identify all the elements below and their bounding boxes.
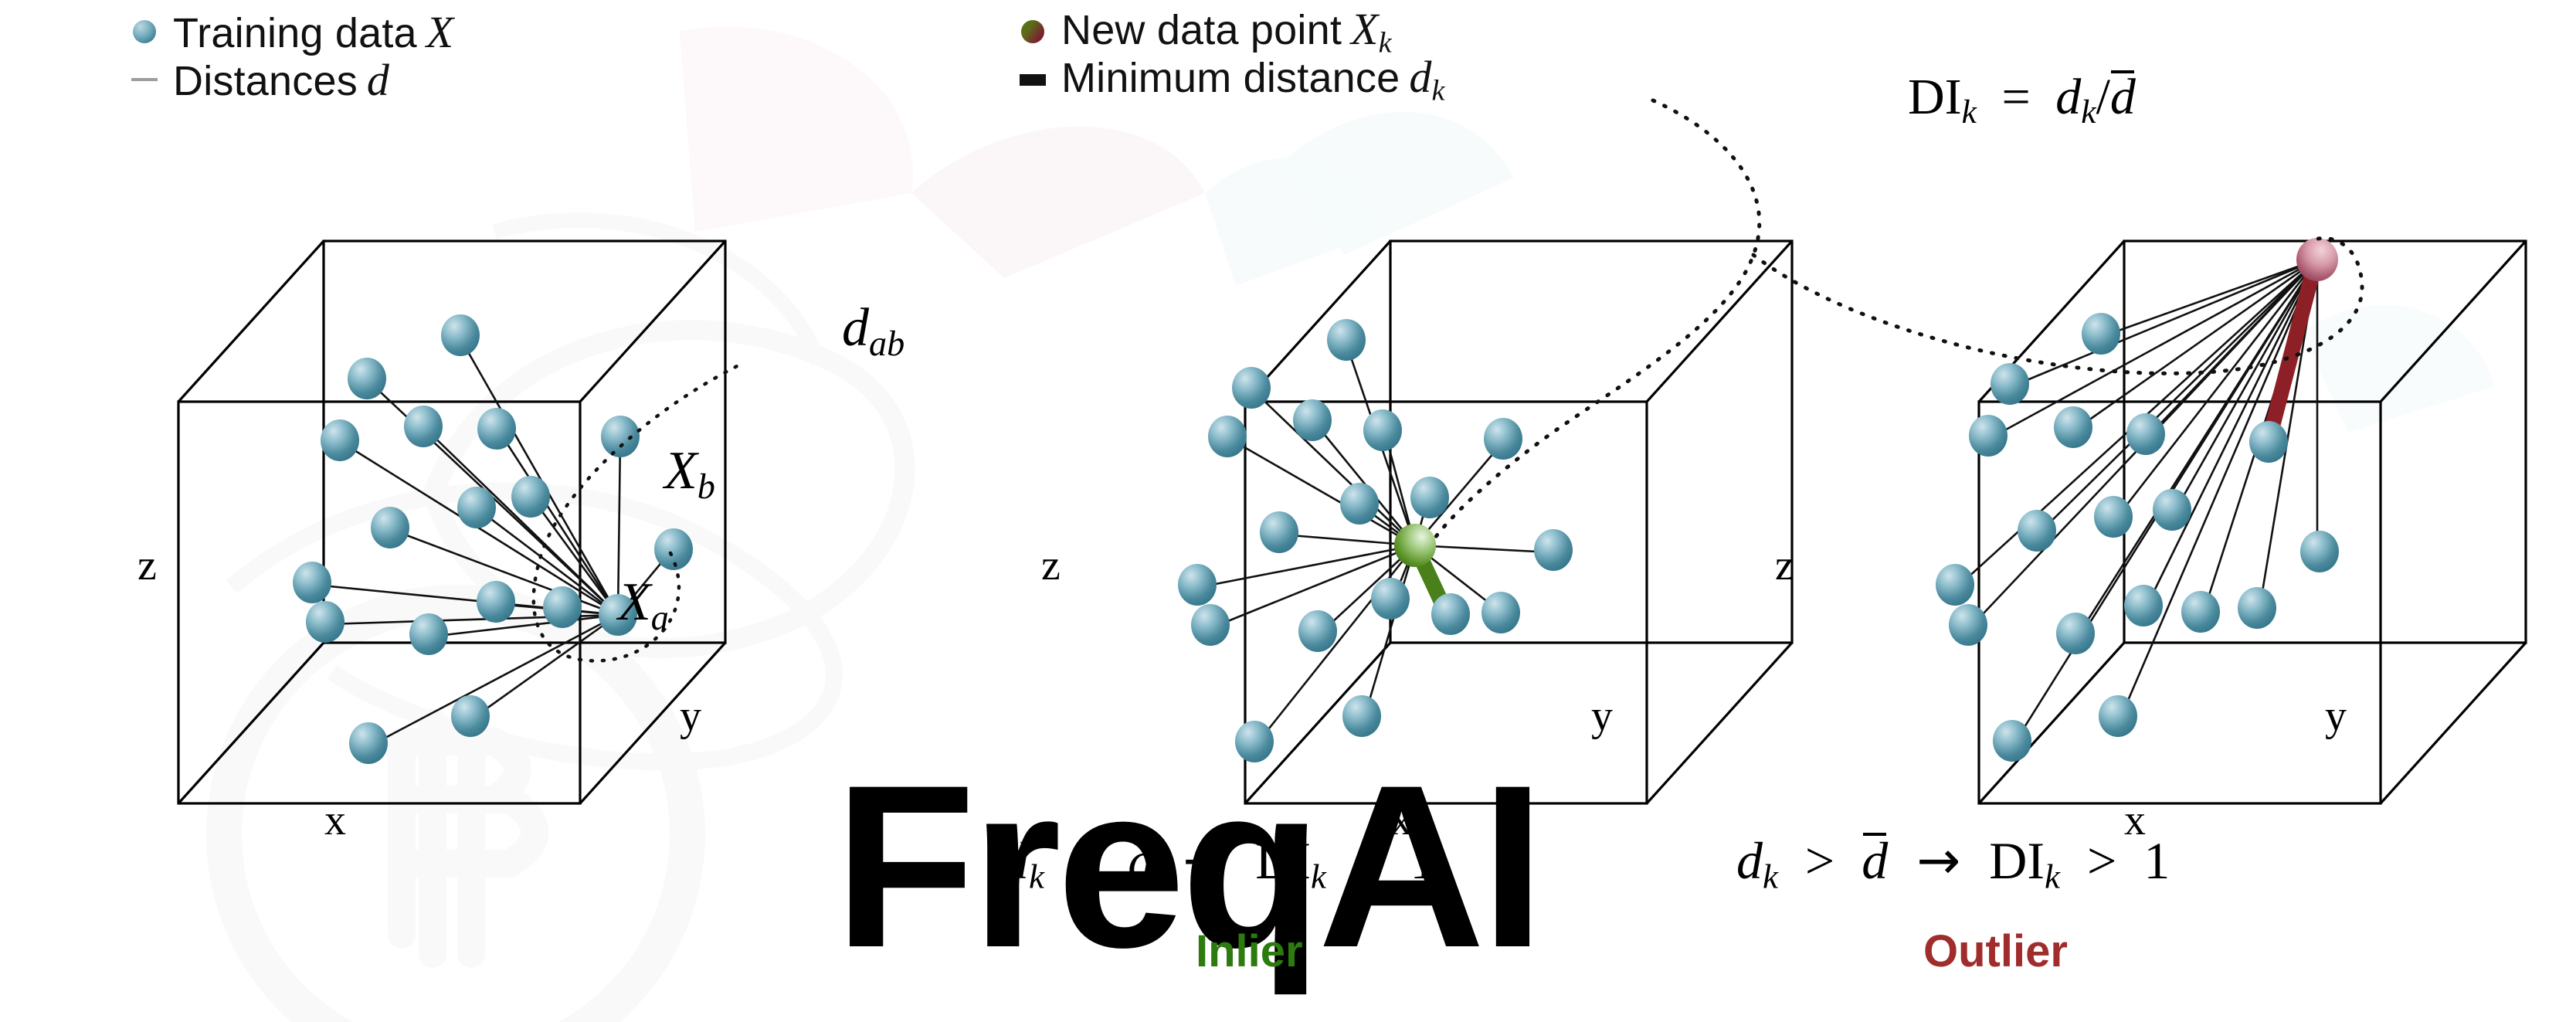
axis-label-y-panel3: y bbox=[2325, 691, 2347, 741]
callout-xa: Xa bbox=[618, 572, 669, 638]
di-definition-formula: DIk = dk/d bbox=[1908, 68, 2136, 131]
legend-label-minimum-distance: Minimum distancedk bbox=[1061, 51, 1445, 108]
legend-label-distances: Distancesd bbox=[173, 54, 389, 106]
new-data-point-inlier bbox=[1394, 524, 1436, 567]
axis-label-y-panel2: y bbox=[1591, 691, 1613, 741]
training-points bbox=[293, 314, 693, 764]
axis-label-x-panel1: x bbox=[324, 796, 346, 845]
panel-training-cube bbox=[178, 241, 743, 803]
cube-edges bbox=[1979, 241, 2526, 803]
callout-xb: Xb bbox=[664, 440, 715, 507]
legend-item-new-data-point: New data pointXk bbox=[1004, 8, 1445, 56]
axis-label-y-panel1: y bbox=[680, 691, 701, 741]
outlier-condition-formula: dk > d → DIk > 1 bbox=[1736, 830, 2170, 897]
legend-item-distances: Distancesd bbox=[116, 56, 453, 104]
verdict-outlier: Outlier bbox=[1923, 925, 2068, 977]
axis-label-z-panel3: z bbox=[1775, 541, 1794, 590]
legend-column-left: Training dataX Distancesd bbox=[116, 8, 453, 104]
green-red-dot-icon bbox=[1004, 20, 1061, 43]
legend-item-training-data: Training dataX bbox=[116, 8, 453, 56]
teal-dot-icon bbox=[116, 20, 173, 43]
axis-label-z-panel2: z bbox=[1041, 541, 1061, 590]
axis-label-z-panel1: z bbox=[137, 541, 157, 590]
figure-canvas: FreqAI Training dataX Distancesd New dat… bbox=[0, 0, 2576, 1022]
legend-label-training-data: Training dataX bbox=[173, 6, 453, 58]
thick-dash-icon bbox=[1004, 74, 1061, 86]
distance-lines bbox=[1957, 260, 2317, 743]
min-distance-callout-inlier bbox=[1433, 100, 1760, 541]
inlier-condition-formula: dk < d → DIk < 1 bbox=[1003, 830, 1436, 897]
distance-lines bbox=[314, 338, 671, 745]
cube-edges bbox=[1245, 241, 1792, 803]
new-data-point-outlier bbox=[2296, 238, 2338, 281]
panel-inlier-cube bbox=[1178, 100, 1792, 803]
legend-column-right: New data pointXk Minimum distancedk bbox=[1004, 8, 1445, 104]
thin-dash-icon bbox=[116, 78, 173, 81]
training-points bbox=[1178, 319, 1573, 762]
verdict-inlier: Inlier bbox=[1196, 925, 1303, 977]
callout-dab: dab bbox=[842, 297, 904, 364]
panel-outlier-cube bbox=[1753, 238, 2526, 803]
legend-item-minimum-distance: Minimum distancedk bbox=[1004, 56, 1445, 104]
